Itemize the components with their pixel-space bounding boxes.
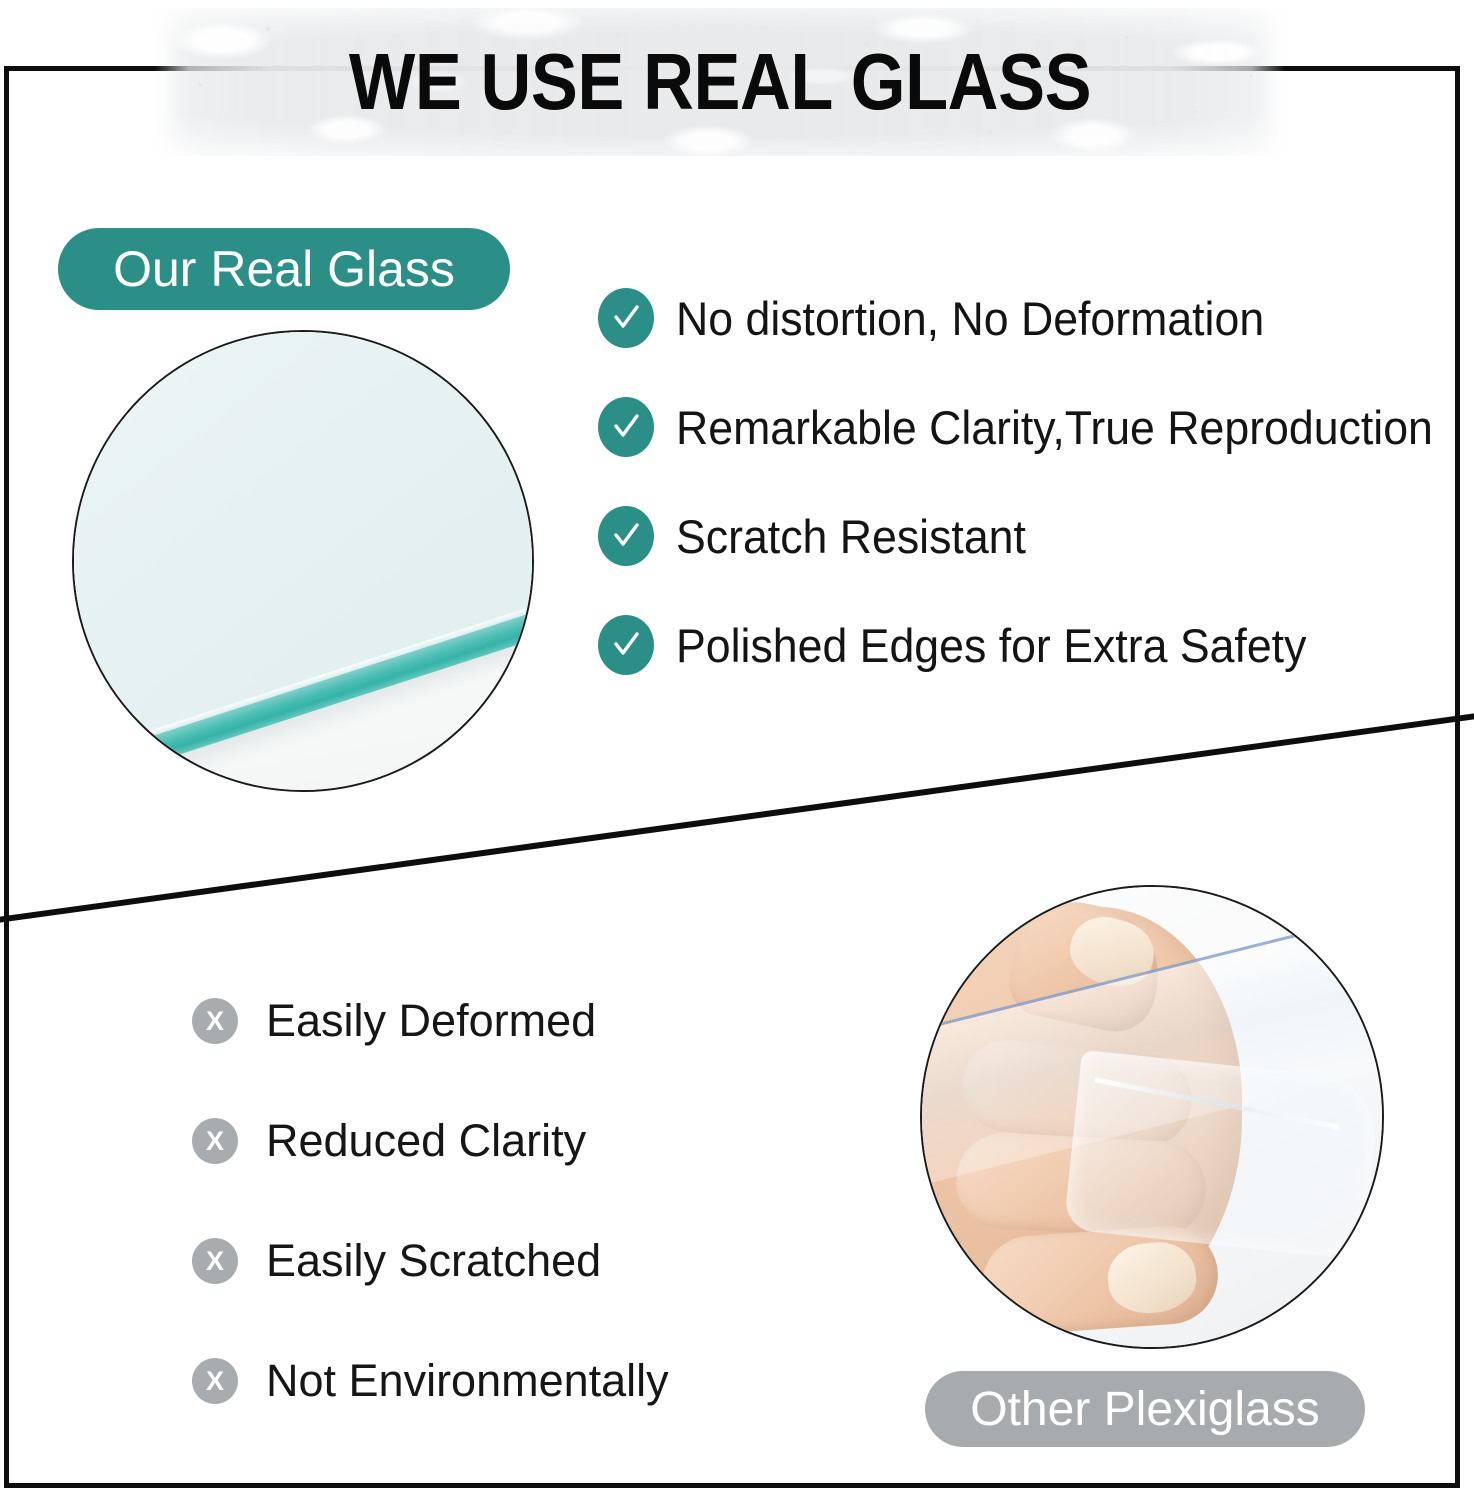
list-item: X Reduced Clarity bbox=[192, 1115, 669, 1167]
check-circle-icon bbox=[598, 397, 654, 457]
x-circle-icon: X bbox=[192, 1358, 238, 1404]
cons-item-label: Reduced Clarity bbox=[266, 1115, 586, 1167]
x-circle-icon: X bbox=[192, 1118, 238, 1164]
list-item: Polished Edges for Extra Safety bbox=[598, 615, 1473, 675]
other-plexiglass-badge: Other Plexiglass bbox=[925, 1371, 1365, 1447]
list-item: X Easily Deformed bbox=[192, 995, 669, 1047]
pros-list: No distortion, No Deformation Remarkable… bbox=[598, 288, 1473, 675]
list-item: Scratch Resistant bbox=[598, 506, 1473, 566]
plexiglass-photo bbox=[920, 885, 1384, 1349]
cons-item-label: Easily Scratched bbox=[266, 1235, 601, 1287]
list-item: X Not Environmentally bbox=[192, 1355, 669, 1407]
cons-item-label: Easily Deformed bbox=[266, 995, 596, 1047]
our-real-glass-badge: Our Real Glass bbox=[58, 228, 510, 310]
x-circle-icon: X bbox=[192, 998, 238, 1044]
title-banner: WE USE REAL GLASS bbox=[155, 8, 1285, 156]
pros-item-label: Polished Edges for Extra Safety bbox=[676, 618, 1306, 673]
comparison-infographic: WE USE REAL GLASS Our Real Glass No dist… bbox=[0, 0, 1474, 1500]
real-glass-photo bbox=[72, 330, 534, 792]
pros-item-label: Scratch Resistant bbox=[676, 509, 1026, 564]
x-circle-icon: X bbox=[192, 1238, 238, 1284]
page-title: WE USE REAL GLASS bbox=[223, 8, 1217, 156]
list-item: No distortion, No Deformation bbox=[598, 288, 1473, 348]
check-circle-icon bbox=[598, 506, 654, 566]
cons-item-label: Not Environmentally bbox=[266, 1355, 669, 1407]
list-item: Remarkable Clarity,True Reproduction bbox=[598, 397, 1473, 457]
check-circle-icon bbox=[598, 615, 654, 675]
list-item: X Easily Scratched bbox=[192, 1235, 669, 1287]
check-circle-icon bbox=[598, 288, 654, 348]
pros-item-label: No distortion, No Deformation bbox=[676, 291, 1264, 346]
our-real-glass-badge-label: Our Real Glass bbox=[113, 240, 455, 298]
pros-item-label: Remarkable Clarity,True Reproduction bbox=[676, 400, 1433, 455]
cons-list: X Easily Deformed X Reduced Clarity X Ea… bbox=[192, 995, 669, 1407]
other-plexiglass-badge-label: Other Plexiglass bbox=[970, 1382, 1319, 1437]
